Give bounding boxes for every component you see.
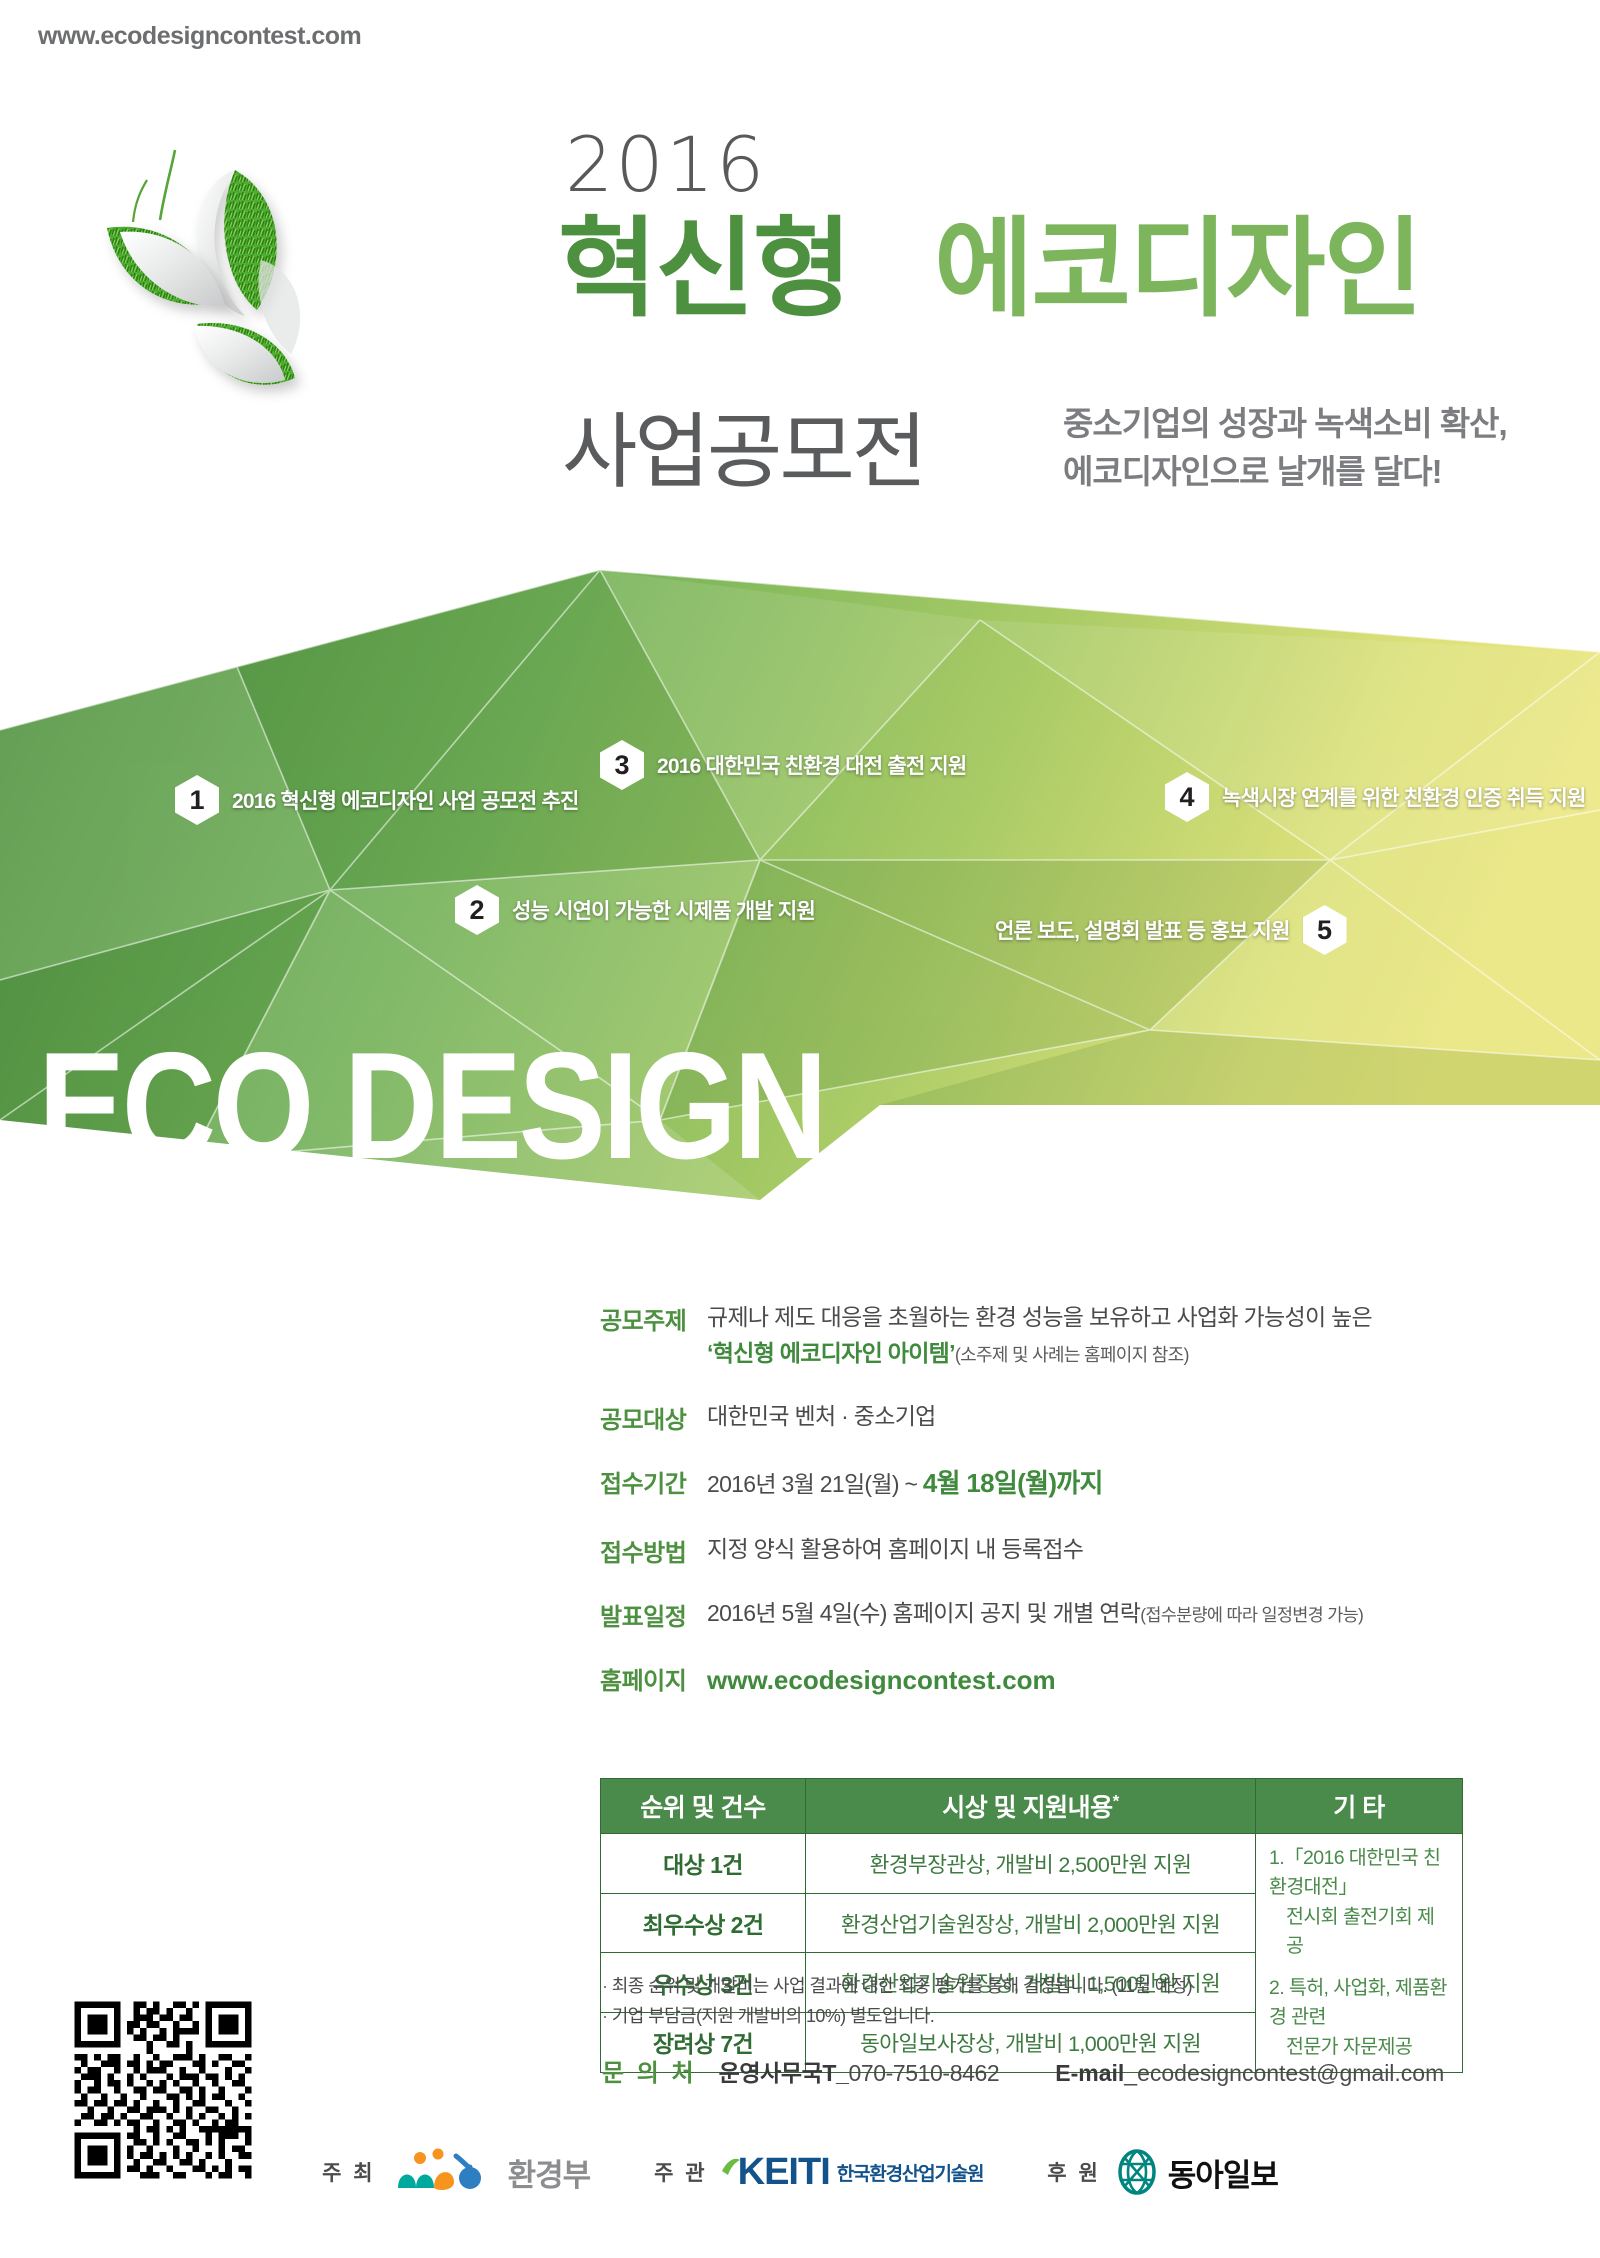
contact-office-block: 운영사무국T_070-7510-8462 [719, 2054, 1000, 2088]
awards-header-row: 순위 및 건수 시상 및 지원내용* 기 타 [601, 1779, 1463, 1834]
hex-number-icon: 3 [600, 740, 644, 790]
detail-row-announcement: 발표일정 2016년 5월 4일(수) 홈페이지 공지 및 개별 연락(접수분량… [600, 1596, 1560, 1632]
detail-label-announcement: 발표일정 [600, 1596, 695, 1632]
sponsor-host-role: 주 최 [322, 2157, 375, 2187]
award-rank-1: 대상 1건 [601, 1834, 806, 1894]
leaf-butterfly-logo [85, 110, 375, 410]
detail-label-theme: 공모주제 [600, 1300, 695, 1336]
feature-bullet-2: 2 성능 시연이 가능한 시제품 개발 지원 [455, 885, 815, 935]
detail-value-eligibility: 대한민국 벤처 · 중소기업 [707, 1399, 936, 1435]
theme-emphasis: ‘혁신형 에코디자인 아이템’ [707, 1340, 955, 1366]
feature-bullet-3: 3 2016 대한민국 친환경 대전 출전 지원 [600, 740, 966, 790]
poster-tagline: 중소기업의 성장과 녹색소비 확산, 에코디자인으로 날개를 달다! [1063, 400, 1507, 496]
etc-note-2: 2. 특허, 사업화, 제품환경 관련 전문가 자문제공 [1269, 1974, 1449, 2062]
top-url: www.ecodesigncontest.com [38, 22, 361, 51]
period-plain: 2016년 3월 21일(월) ~ [707, 1471, 923, 1497]
contest-details: 공모주제 규제나 제도 대응을 초월하는 환경 성능을 보유하고 사업화 가능성… [600, 1300, 1560, 1728]
year-label: 2016 [565, 120, 766, 209]
feature-bullet-5: 5 언론 보도, 설명회 발표 등 홍보 지원 [995, 905, 1347, 955]
feature-bullet-3-label: 2016 대한민국 친환경 대전 출전 지원 [657, 750, 966, 780]
contact-tel-label: T_ [822, 2060, 848, 2086]
keiti-logo-icon [722, 2157, 738, 2187]
hex-number-icon: 4 [1165, 772, 1209, 822]
hex-number-icon: 1 [175, 775, 219, 825]
feature-bullet-1: 1 2016 혁신형 에코디자인 사업 공모전 추진 [175, 775, 579, 825]
award-prize-2: 환경산업기술원장상, 개발비 2,000만원 지원 [806, 1893, 1256, 1953]
awards-header-asterisk: * [1113, 1792, 1119, 1811]
sponsor-supporter-role: 후 원 [1047, 2157, 1100, 2187]
contact-row: 문 의 처 운영사무국T_070-7510-8462 E-mail_ecodes… [602, 2053, 1444, 2088]
etc-note-1-head: 1.「2016 대한민국 친환경대전」 [1269, 1847, 1440, 1898]
detail-row-eligibility: 공모대상 대한민국 벤처 · 중소기업 [600, 1399, 1560, 1435]
detail-row-period: 접수기간 2016년 3월 21일(월) ~ 4월 18일(월)까지 [600, 1463, 1560, 1503]
etc-note-1-body: 전시회 출전기회 제공 [1269, 1903, 1449, 1962]
keiti-wordmark: KEITI [738, 2151, 830, 2194]
tagline-line-1: 중소기업의 성장과 녹색소비 확산, [1063, 400, 1507, 448]
award-prize-1: 환경부장관상, 개발비 2,500만원 지원 [806, 1834, 1256, 1894]
footnote-2: 기업 부담금(지원 개발비의 10%) 별도입니다. [602, 2002, 1192, 2032]
announcement-note: (접수분량에 따라 일정변경 가능) [1140, 1605, 1363, 1625]
sponsor-host: 주 최 환경부 [322, 2148, 590, 2196]
awards-etc-cell: 1.「2016 대한민국 친환경대전」 전시회 출전기회 제공 2. 특허, 사… [1256, 1834, 1463, 2073]
footnote-1: 최종 순위 및 개발비는 사업 결과에 대한 최종 평가를 통해 결정됩니다. … [602, 1972, 1192, 2002]
award-rank-2: 최우수상 2건 [601, 1893, 806, 1953]
title-part-2: 에코디자인 [934, 208, 1421, 329]
moe-logo-icon [390, 2148, 500, 2196]
period-deadline: 4월 18일(월)까지 [923, 1468, 1103, 1498]
hex-number-icon: 5 [1303, 905, 1347, 955]
detail-row-method: 접수방법 지정 양식 활용하여 홈페이지 내 등록접수 [600, 1532, 1560, 1568]
contact-office: 운영사무국 [719, 2060, 823, 2086]
announcement-plain: 2016년 5월 4일(수) 홈페이지 공지 및 개별 연락 [707, 1600, 1140, 1626]
poster-title: 혁신형 에코디자인 [558, 215, 1421, 323]
detail-value-method: 지정 양식 활용하여 홈페이지 내 등록접수 [707, 1532, 1083, 1568]
sponsors-footer: 주 최 환경부 주 관 KEITI [0, 2148, 1600, 2196]
table-row: 대상 1건 환경부장관상, 개발비 2,500만원 지원 1.「2016 대한민… [601, 1834, 1463, 1894]
contact-email-block: E-mail_ecodesigncontest@gmail.com [1055, 2060, 1444, 2087]
detail-value-period: 2016년 3월 21일(월) ~ 4월 18일(월)까지 [707, 1463, 1103, 1503]
feature-bullet-5-label: 언론 보도, 설명회 발표 등 홍보 지원 [995, 915, 1290, 945]
sponsor-organizer-name: 한국환경산업기술원 [837, 2159, 984, 2186]
detail-value-website[interactable]: www.ecodesigncontest.com [707, 1660, 1056, 1700]
awards-header-prize: 시상 및 지원내용* [806, 1779, 1256, 1834]
awards-header-etc: 기 타 [1256, 1779, 1463, 1834]
etc-note-1: 1.「2016 대한민국 친환경대전」 전시회 출전기회 제공 [1269, 1844, 1449, 1961]
awards-footnotes: 최종 순위 및 개발비는 사업 결과에 대한 최종 평가를 통해 결정됩니다. … [602, 1972, 1192, 2031]
tagline-line-2: 에코디자인으로 날개를 달다! [1063, 448, 1507, 496]
poster-subtitle: 사업공모전 [562, 385, 924, 504]
detail-value-announcement: 2016년 5월 4일(수) 홈페이지 공지 및 개별 연락(접수분량에 따라 … [707, 1596, 1363, 1632]
awards-header-rank: 순위 및 건수 [601, 1779, 806, 1834]
contact-label: 문 의 처 [602, 2053, 697, 2088]
contact-tel: 070-7510-8462 [848, 2060, 999, 2086]
detail-label-period: 접수기간 [600, 1463, 695, 1499]
sponsor-supporter: 후 원 동아일보 [1047, 2149, 1278, 2195]
poster-root: www.ecodesigncontest.com [0, 0, 1600, 2258]
feature-bullet-1-label: 2016 혁신형 에코디자인 사업 공모전 추진 [232, 785, 579, 815]
detail-label-website: 홈페이지 [600, 1660, 695, 1696]
detail-value-theme: 규제나 제도 대응을 초월하는 환경 성능을 보유하고 사업화 가능성이 높은 … [707, 1300, 1372, 1371]
title-part-1: 혁신형 [558, 208, 850, 329]
etc-note-2-head: 2. 특허, 사업화, 제품환경 관련 [1269, 1977, 1447, 2028]
detail-row-theme: 공모주제 규제나 제도 대응을 초월하는 환경 성능을 보유하고 사업화 가능성… [600, 1300, 1560, 1371]
detail-row-website: 홈페이지 www.ecodesigncontest.com [600, 1660, 1560, 1700]
sponsor-host-name: 환경부 [508, 2150, 591, 2195]
hex-number-icon: 2 [455, 885, 499, 935]
sponsor-supporter-name: 동아일보 [1168, 2150, 1278, 2195]
feature-bullet-2-label: 성능 시연이 가능한 시제품 개발 지원 [512, 895, 815, 925]
sponsor-organizer: 주 관 KEITI 한국환경산업기술원 [654, 2151, 983, 2194]
detail-label-eligibility: 공모대상 [600, 1399, 695, 1435]
sponsor-organizer-role: 주 관 [654, 2157, 707, 2187]
eco-design-wordmark: ECO DESIGN [38, 1030, 824, 1182]
theme-line-1: 규제나 제도 대응을 초월하는 환경 성능을 보유하고 사업화 가능성이 높은 [707, 1304, 1372, 1330]
donga-logo-icon [1115, 2149, 1159, 2195]
feature-bullet-4: 4 녹색시장 연계를 위한 친환경 인증 취득 지원 [1165, 772, 1586, 822]
awards-header-prize-text: 시상 및 지원내용 [942, 1794, 1112, 1822]
detail-label-method: 접수방법 [600, 1532, 695, 1568]
feature-bullet-4-label: 녹색시장 연계를 위한 친환경 인증 취득 지원 [1222, 782, 1586, 812]
theme-note: (소주제 및 사례는 홈페이지 참조) [955, 1345, 1189, 1365]
contact-email-label: E-mail [1055, 2060, 1124, 2086]
contact-email[interactable]: _ecodesigncontest@gmail.com [1124, 2060, 1444, 2086]
